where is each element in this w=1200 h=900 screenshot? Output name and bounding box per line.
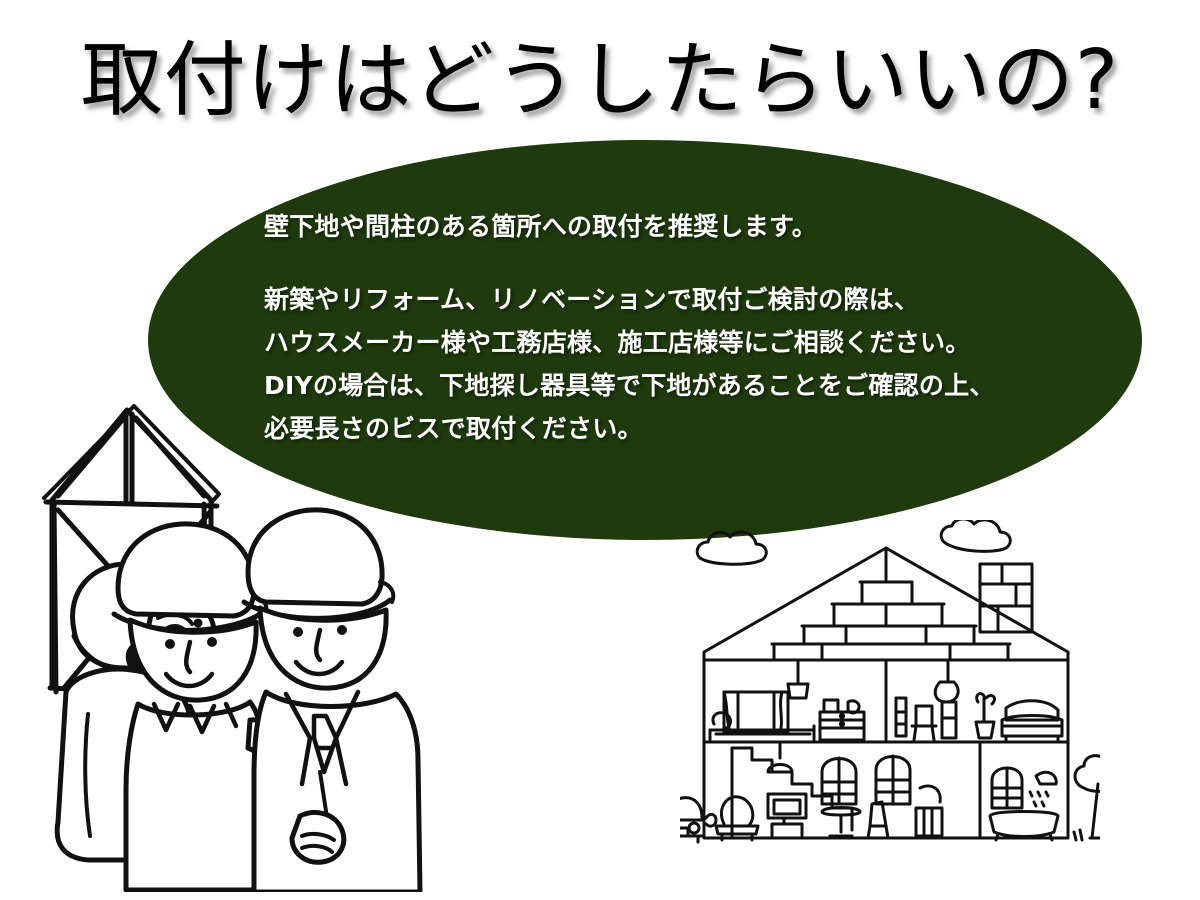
car-icon	[680, 798, 716, 842]
potted-plant-icon	[976, 694, 994, 738]
pendant-lamp-icon	[935, 662, 958, 702]
bathtub-icon	[990, 812, 1058, 841]
tree-icon	[1075, 756, 1100, 838]
construction-workers-illustration	[14, 392, 444, 892]
shower-icon	[1030, 772, 1056, 806]
worker-with-necktie	[244, 510, 420, 892]
callout-line-lead: 壁下地や間柱のある箇所への取付を推奨します。	[264, 214, 1074, 239]
sofa-icon	[1002, 701, 1062, 742]
dresser-icon	[820, 700, 864, 740]
chair-icon	[868, 802, 888, 838]
page-title: 取付けはどうしたらいいの?	[0, 38, 1200, 124]
chair-icon	[912, 706, 936, 740]
arched-window	[992, 768, 1022, 808]
pendant-lamp-icon	[788, 662, 808, 698]
slide-root: 取付けはどうしたらいいの? 壁下地や間柱のある箇所への取付を推奨します。 新築や…	[0, 0, 1200, 900]
dining-table-icon	[822, 808, 860, 837]
callout-line-body1: 新築やリフォーム、リノベーションで取付ご検討の際は、	[264, 287, 1074, 312]
sofa-icon	[716, 797, 758, 840]
cloud-icon	[941, 520, 1010, 551]
shelf-icon	[942, 702, 956, 738]
arched-window	[876, 756, 910, 804]
cutaway-house-illustration	[680, 520, 1100, 860]
pendant-lamp-icon	[768, 744, 792, 772]
radiator-icon	[916, 786, 942, 836]
callout-line-body2: ハウスメーカー様や工務店様、施工店様等にご相談ください。	[264, 330, 1074, 355]
curtained-window	[724, 692, 788, 732]
television-icon	[768, 794, 806, 838]
chimney-icon	[980, 564, 1032, 632]
cloud-icon	[697, 532, 766, 564]
shelf-icon	[896, 698, 906, 736]
bed-icon	[710, 713, 814, 740]
